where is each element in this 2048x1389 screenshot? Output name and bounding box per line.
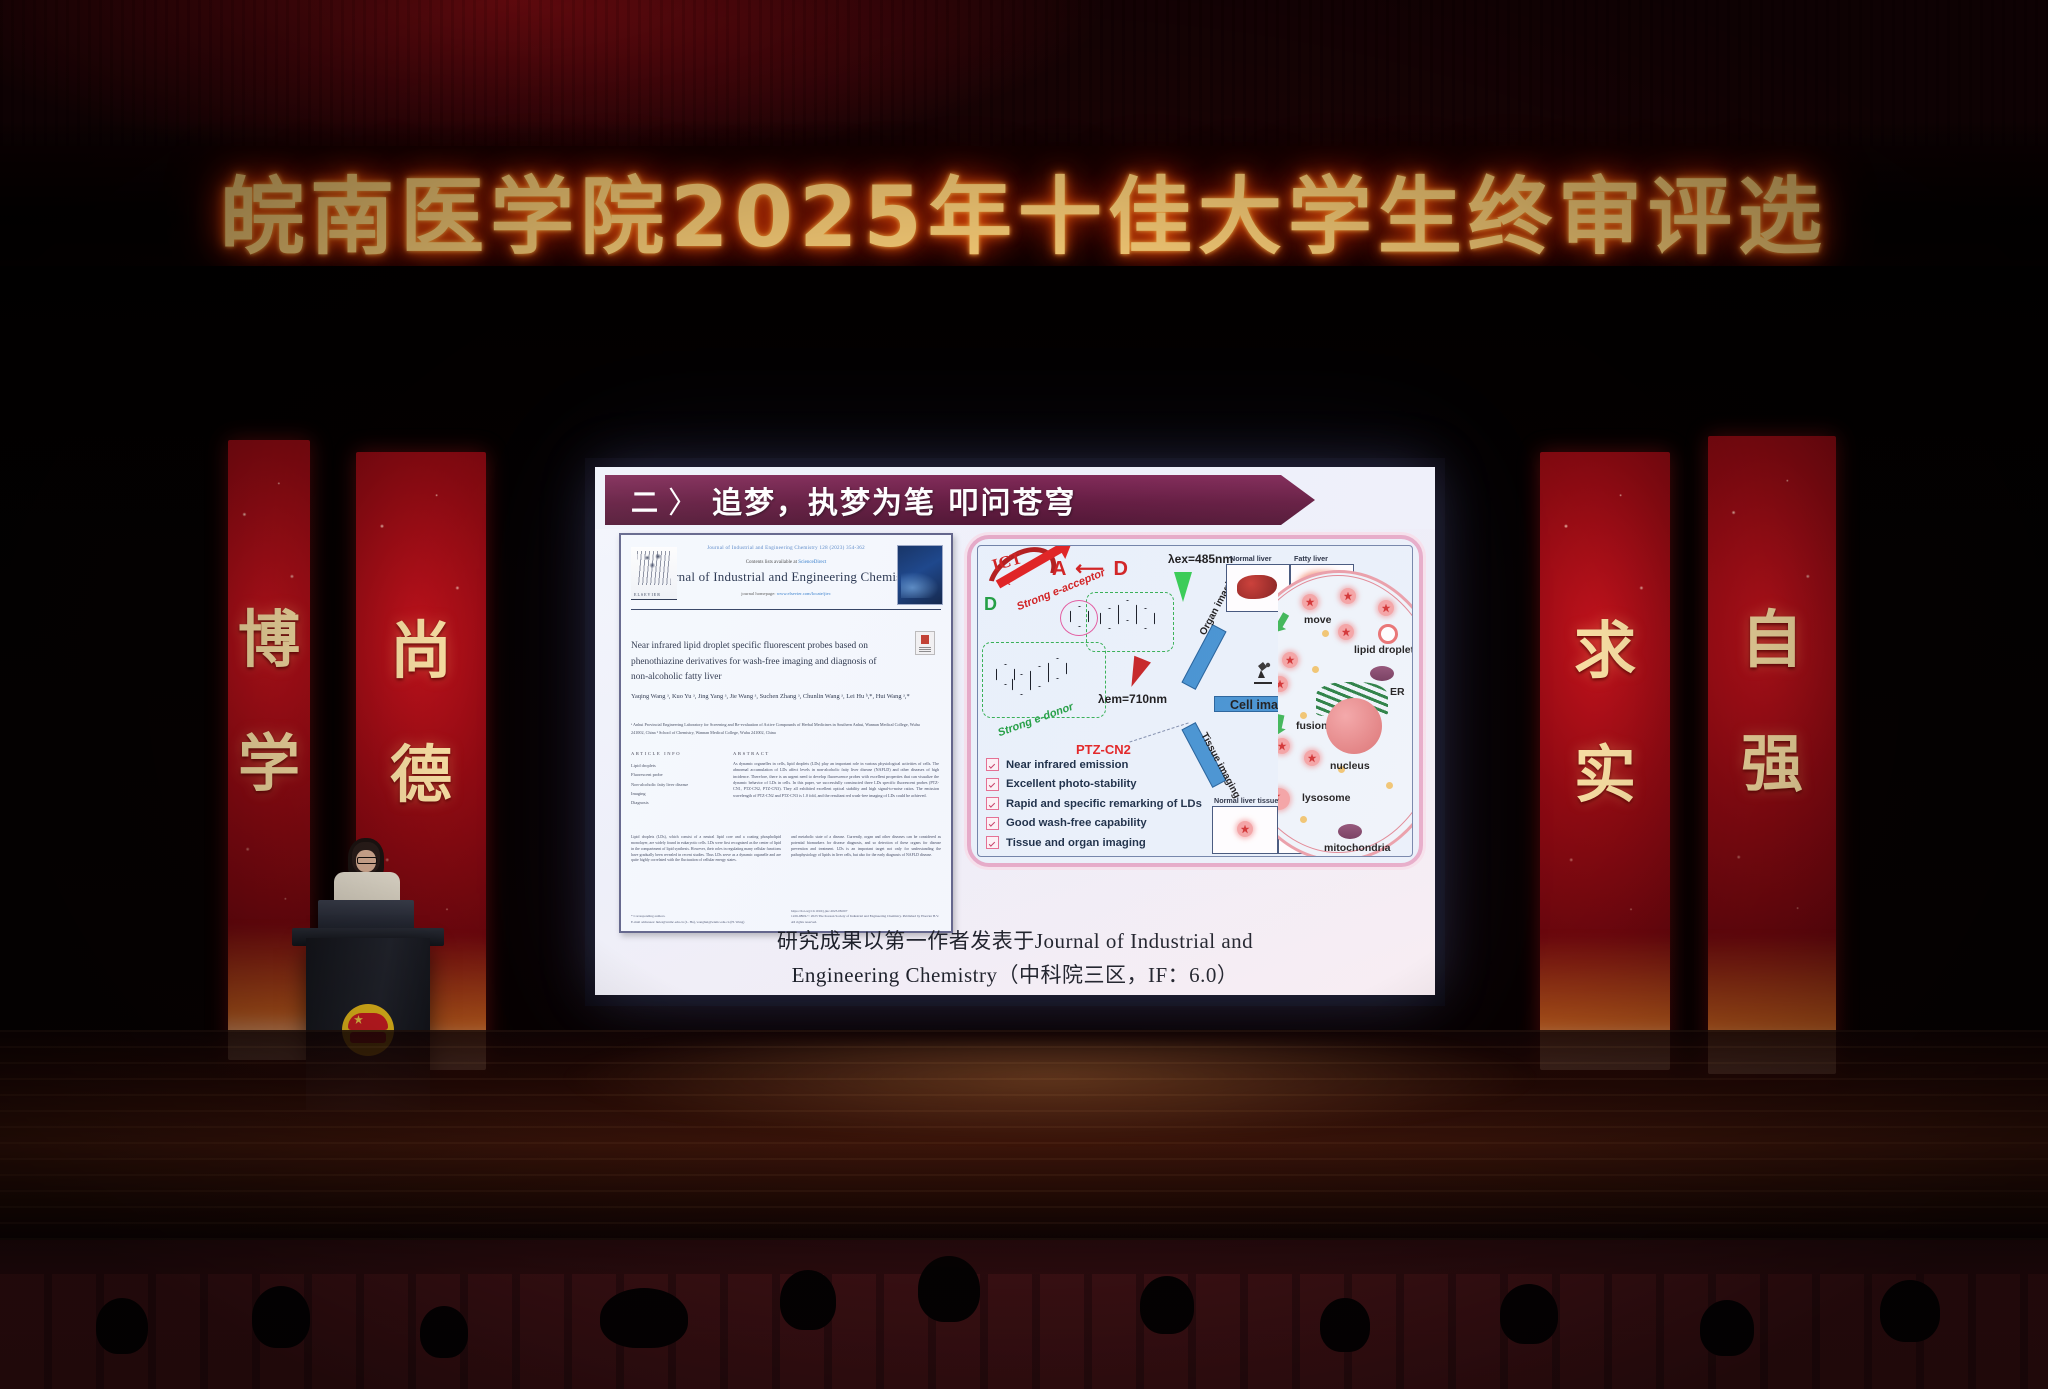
banner-char: 德 — [390, 724, 452, 814]
nucleus-label: nucleus — [1330, 760, 1370, 772]
lipid-droplet-icon — [1282, 652, 1298, 668]
right-banner-1: 求 实 — [1540, 452, 1670, 1070]
audience-head — [1320, 1298, 1370, 1352]
banner-char: 求 — [1574, 600, 1636, 690]
audience-head — [1880, 1280, 1940, 1342]
probe-pointer-line — [1129, 722, 1188, 742]
vesicle-icon — [1386, 782, 1393, 789]
lipid-droplet-icon — [1340, 588, 1356, 604]
journal-paper-screenshot: Journal of Industrial and Engineering Ch… — [619, 533, 953, 933]
check-icon — [986, 778, 999, 791]
right-banner-2: 自 强 — [1708, 436, 1836, 1074]
left-banner-2-chars: 尚 德 — [356, 600, 486, 814]
banner-char: 强 — [1741, 713, 1803, 803]
left-banner-1-chars: 博 学 — [228, 589, 310, 803]
mitochondria-label: mitochondria — [1324, 842, 1391, 854]
donor-letter-label: D — [984, 594, 997, 615]
acceptor-dashed-box — [1086, 592, 1174, 652]
audience-head — [96, 1298, 148, 1354]
article-info-header: ARTICLE INFO — [631, 751, 681, 756]
paper-divider — [631, 609, 941, 610]
emission-wavelength-label: λem=710nm — [1098, 692, 1167, 706]
paper-abstract: As dynamic organelles in cells, lipid dr… — [733, 761, 939, 799]
lipid-droplet-icon — [1237, 821, 1253, 837]
probe-name-label: PTZ-CN2 — [1076, 742, 1131, 757]
lipid-droplet-icon — [1378, 600, 1394, 616]
elsevier-logo-icon: ELSEVIER — [631, 547, 677, 600]
left-banner-1: 博 学 — [228, 440, 310, 1060]
feature-label: Near infrared emission — [1006, 759, 1128, 771]
paper-intro-col1: Lipid droplets (LDs), which consist of a… — [631, 835, 781, 864]
check-icon — [986, 836, 999, 849]
audience-head — [1700, 1300, 1754, 1356]
banner-char: 博 — [238, 589, 300, 679]
cell-diagram: ⬇ ⬇ move fusion lipid droplets ER nucleu… — [1278, 570, 1413, 856]
feature-label: Tissue and organ imaging — [1006, 837, 1146, 849]
microscope-icon — [1246, 656, 1276, 686]
audience-head — [1500, 1284, 1558, 1344]
feature-label: Rapid and specific remarking of LDs — [1006, 798, 1202, 810]
crossmark-badge-icon — [915, 631, 935, 655]
er-label: ER — [1390, 686, 1405, 698]
feature-item: Rapid and specific remarking of LDs — [986, 797, 1202, 810]
fusion-label: fusion — [1296, 720, 1328, 732]
chevron-right-icon: 〉 — [668, 478, 698, 522]
paper-authors: Yaqing Wang ᵃ, Kuo Yu ᵃ, Jing Yang ᵃ, Ji… — [631, 691, 931, 703]
move-label: move — [1304, 614, 1331, 626]
normal-liver-tissue-panel — [1212, 806, 1278, 854]
banner-char: 实 — [1574, 724, 1636, 814]
audience-head — [420, 1306, 468, 1358]
vesicle-icon — [1322, 630, 1329, 637]
homepage-link[interactable]: www.elsevier.com/locate/jiec — [777, 591, 831, 596]
available-label: Contents lists available at — [746, 560, 797, 565]
excitation-wavelength-label: λex=485nm — [1168, 552, 1233, 566]
audience-head — [780, 1270, 836, 1330]
vesicle-icon — [1312, 666, 1319, 673]
feature-item: Near infrared emission — [986, 758, 1202, 771]
slide-section-header: 二 〉 追梦，执梦为笔 叩问苍穹 — [605, 475, 1315, 525]
paper-title: Near infrared lipid droplet specific flu… — [631, 639, 881, 686]
check-icon — [986, 758, 999, 771]
banner-char: 自 — [1741, 589, 1803, 679]
check-icon — [986, 797, 999, 810]
audience-head — [252, 1286, 310, 1348]
lipid-droplet-icon — [1302, 594, 1318, 610]
section-number: 二 — [631, 481, 658, 520]
mitochondria-icon — [1338, 824, 1362, 839]
feature-item: Tissue and organ imaging — [986, 836, 1202, 849]
slide-body: Journal of Industrial and Engineering Ch… — [595, 529, 1435, 995]
graphical-abstract: ICT π A ⟵ D D Strong e-acceptor Strong e… — [967, 535, 1423, 867]
paper-affiliations: ᵃ Anhui Provincial Engineering Laborator… — [631, 721, 931, 736]
banner-char: 学 — [238, 713, 300, 803]
normal-liver-label: Normal liver — [1230, 554, 1272, 563]
journal-cover-thumbnail — [897, 545, 943, 605]
paper-corresponding-note: * Corresponding authors. E-mail addresse… — [631, 914, 781, 925]
caption-line-1: 研究成果以第一作者发表于Journal of Industrial and — [595, 925, 1435, 955]
lipid-droplet-icon — [1304, 750, 1320, 766]
emission-beam-icon — [1123, 656, 1151, 691]
elsevier-wordmark: ELSEVIER — [634, 592, 661, 597]
sciencedirect-link[interactable]: ScienceDirect — [798, 560, 826, 565]
graphical-abstract-inner: ICT π A ⟵ D D Strong e-acceptor Strong e… — [977, 545, 1413, 857]
abstract-header: ABSTRACT — [733, 751, 770, 756]
paper-keywords: Lipid droplets Fluorescent probe Non-alc… — [631, 761, 717, 807]
excitation-beam-icon — [1174, 572, 1192, 602]
projection-screen: 二 〉 追梦，执梦为笔 叩问苍穹 Journal of Industrial a… — [595, 467, 1435, 995]
elsevier-tree-icon — [637, 551, 671, 585]
lipid-droplet-outline-icon — [1378, 624, 1398, 644]
nucleus-icon — [1326, 698, 1382, 754]
caption-line-2: Engineering Chemistry（中科院三区，IF：6.0） — [595, 959, 1435, 989]
feature-item: Excellent photo-stability — [986, 778, 1202, 791]
star-icon — [354, 1015, 363, 1024]
lipid-droplet-icon — [1338, 624, 1354, 640]
feature-item: Good wash-free capability — [986, 817, 1202, 830]
check-icon — [986, 817, 999, 830]
feature-label: Good wash-free capability — [1006, 817, 1147, 829]
vesicle-icon — [1300, 712, 1307, 719]
liver-icon — [1237, 575, 1277, 599]
lipid-droplets-label: lipid droplets — [1354, 644, 1413, 656]
audience-head — [918, 1256, 980, 1322]
audience-head — [600, 1288, 688, 1348]
led-banner-title: 皖南医学院2025年十佳大学生终审评选 — [0, 150, 2048, 271]
mitochondria-icon — [1370, 666, 1394, 681]
homepage-label: journal homepage: — [741, 591, 775, 596]
right-banner-1-chars: 求 实 — [1540, 600, 1670, 814]
paper-doi-note: https://doi.org/10.1016/j.jiec.2023.08.0… — [791, 909, 941, 925]
speaker-glasses-icon — [357, 857, 377, 864]
paper-intro-col2: and metabolic state of a disease. Curren… — [791, 835, 941, 858]
fatty-liver-label: Fatty liver — [1294, 554, 1328, 563]
normal-liver-tissue-label: Normal liver tissue — [1214, 796, 1278, 805]
auditorium-scene: 皖南医学院2025年十佳大学生终审评选 博 学 尚 德 求 实 自 强 — [0, 0, 2048, 1389]
section-title: 追梦，执梦为笔 叩问苍穹 — [712, 478, 1076, 522]
slide-caption: 研究成果以第一作者发表于Journal of Industrial and En… — [595, 925, 1435, 989]
lysosome-label: lysosome — [1302, 792, 1350, 804]
audience-head — [1140, 1276, 1194, 1334]
feature-checklist: Near infrared emission Excellent photo-s… — [986, 758, 1202, 849]
banner-char: 尚 — [390, 600, 452, 690]
right-banner-2-chars: 自 强 — [1708, 589, 1836, 803]
feature-label: Excellent photo-stability — [1006, 778, 1137, 790]
audience-area — [0, 1240, 2048, 1389]
stage-floor-reflection — [300, 1040, 1800, 1230]
vesicle-icon — [1300, 816, 1307, 823]
